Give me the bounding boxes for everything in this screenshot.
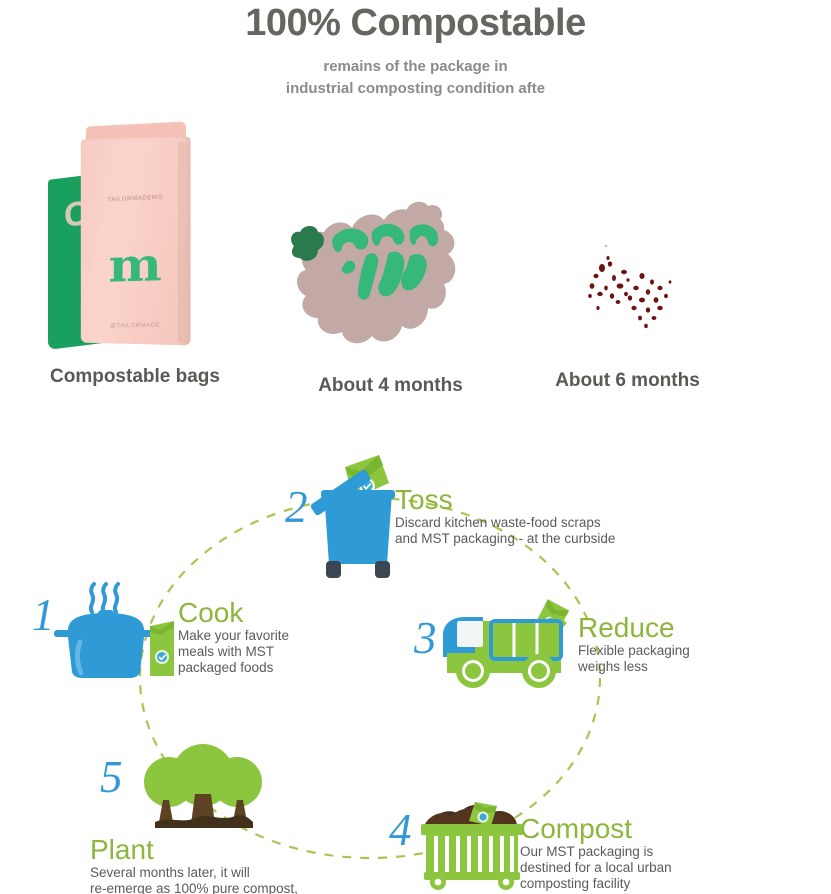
step-desc-toss: Discard kitchen waste-food scraps and MS… xyxy=(395,515,725,547)
decayed-bag-svg xyxy=(288,190,478,360)
step-title-cook: Cook xyxy=(178,598,343,628)
bag-brand-top: TAILORMADEMO xyxy=(81,193,191,204)
cycle-step-cook[interactable]: 1 xyxy=(20,580,340,690)
stage-caption-six-months: About 6 months xyxy=(530,370,725,392)
trees-icon xyxy=(143,742,263,837)
trees-svg xyxy=(143,742,263,832)
compostable-bag-icon: CAFE TAILORMADEMO m @TAILORMADE xyxy=(40,120,220,350)
page-title: 100% Compostable xyxy=(0,2,831,45)
cycle-step-toss[interactable]: 2 xyxy=(280,443,730,583)
compost-specks-svg xyxy=(530,230,720,360)
page-subtitle: remains of the package in industrial com… xyxy=(0,56,831,100)
step-text-cook: Cook Make your favorite meals with MST p… xyxy=(178,598,343,676)
cycle-step-plant[interactable]: 5 Plant Several months later, it wi xyxy=(85,740,385,894)
step-text-toss: Toss Discard kitchen waste-food scraps a… xyxy=(395,485,725,547)
step-title-plant: Plant xyxy=(90,835,380,865)
bag-front-face: TAILORMADEMO m @TAILORMADE xyxy=(81,137,191,346)
step-title-compost: Compost xyxy=(520,814,730,844)
cooking-pot-icon xyxy=(48,580,188,685)
trash-bin-svg xyxy=(305,443,405,583)
step-number-4: 4 xyxy=(389,808,412,853)
stage-four-months: About 4 months xyxy=(288,190,493,397)
step-number-5: 5 xyxy=(100,755,123,800)
subtitle-line-2: industrial composting condition afte xyxy=(0,78,831,100)
cooking-pot-svg xyxy=(48,580,188,680)
stage-caption-bags: Compostable bags xyxy=(40,366,230,388)
decayed-bag-icon xyxy=(288,190,478,365)
compost-cart-icon xyxy=(417,790,532,894)
compost-specks-icon xyxy=(530,230,720,360)
step-text-plant: Plant Several months later, it will re-e… xyxy=(90,835,380,894)
step-desc-reduce: Flexible packaging weighs less xyxy=(578,643,743,675)
step-desc-cook: Make your favorite meals with MST packag… xyxy=(178,628,343,676)
cycle-step-reduce[interactable]: 3 xyxy=(410,595,740,705)
step-title-reduce: Reduce xyxy=(578,613,743,643)
lifecycle-diagram: 1 xyxy=(0,415,831,894)
stage-compostable-bag: CAFE TAILORMADEMO m @TAILORMADE Composta… xyxy=(40,120,230,388)
garbage-truck-svg xyxy=(435,595,590,695)
step-text-compost: Compost Our MST packaging is destined fo… xyxy=(520,814,730,892)
stage-six-months: About 6 months xyxy=(530,230,725,392)
cycle-step-compost[interactable]: 4 xyxy=(385,790,725,894)
bag-shadow xyxy=(178,142,192,342)
subtitle-line-1: remains of the package in xyxy=(323,58,507,75)
infographic-page: 100% Compostable remains of the package … xyxy=(0,0,831,894)
stage-caption-four-months: About 4 months xyxy=(288,375,493,397)
trash-bin-icon xyxy=(305,443,405,588)
step-desc-compost: Our MST packaging is destined for a loca… xyxy=(520,844,730,892)
bag-brand-bottom: @TAILORMADE xyxy=(81,322,191,330)
step-number-3: 3 xyxy=(414,616,437,661)
step-desc-plant: Several months later, it will re-emerge … xyxy=(90,865,380,894)
compost-cart-svg xyxy=(417,790,532,890)
garbage-truck-icon xyxy=(435,595,590,700)
step-text-reduce: Reduce Flexible packaging weighs less xyxy=(578,613,743,675)
step-title-toss: Toss xyxy=(395,485,725,515)
